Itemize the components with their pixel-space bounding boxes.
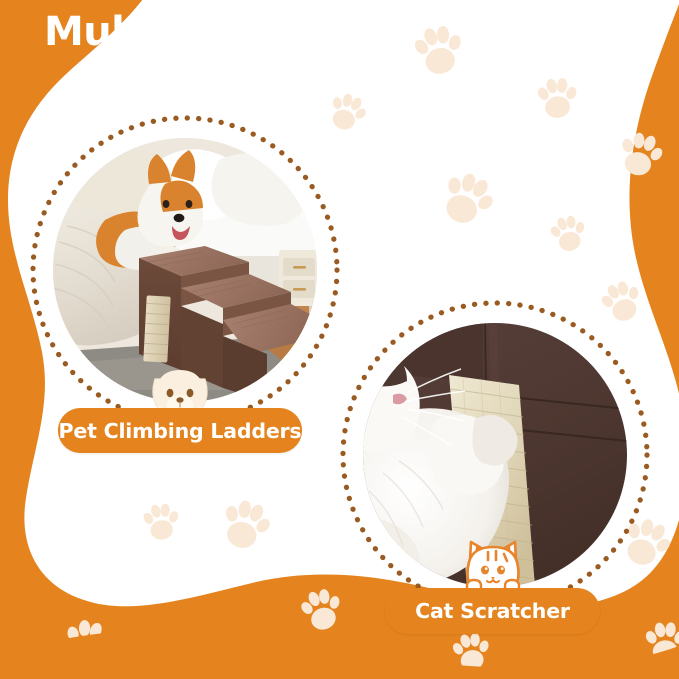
cat-face-icon <box>462 538 524 594</box>
feature-label-pet-climbing-ladders[interactable]: Pet Climbing Ladders <box>58 408 302 453</box>
pill-label-text: Cat Scratcher <box>415 599 570 623</box>
feature-label-cat-scratcher[interactable]: Cat Scratcher <box>385 588 600 634</box>
photo-pet-climbing-ladders <box>53 138 317 402</box>
page-title: Multi-Function <box>44 9 362 55</box>
pill-label-text: Pet Climbing Ladders <box>59 419 302 443</box>
infographic-canvas: Multi-Function <box>0 0 679 679</box>
